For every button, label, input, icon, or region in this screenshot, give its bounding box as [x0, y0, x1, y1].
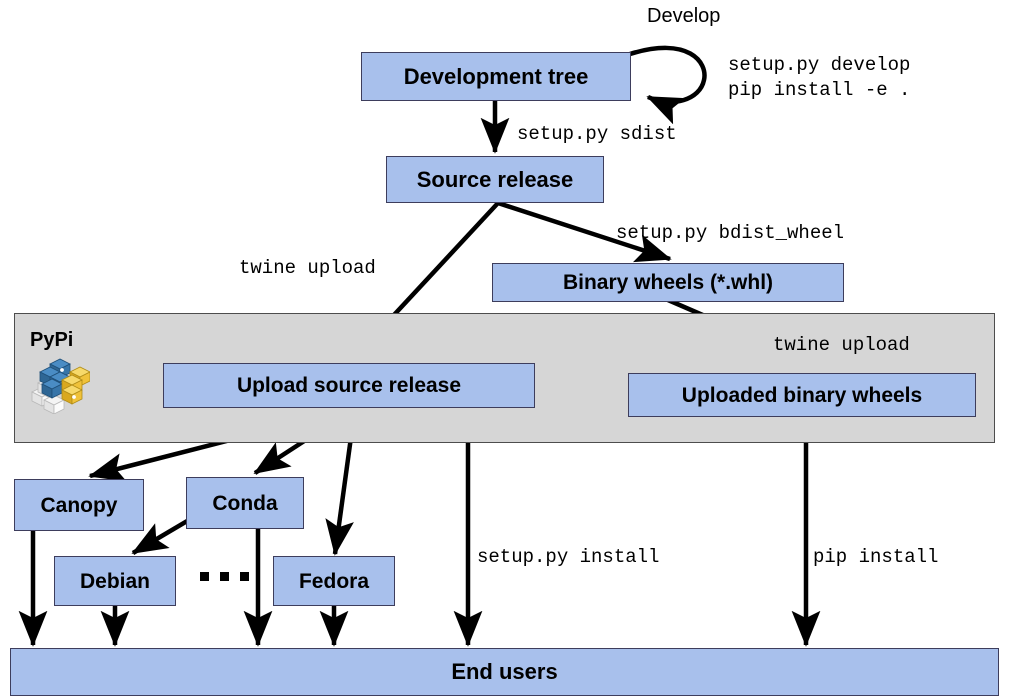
- node-development-tree[interactable]: Development tree: [361, 52, 631, 101]
- edge-label-bdist-wheel: setup.py bdist_wheel: [616, 221, 844, 246]
- edge-develop-selfloop: [630, 48, 704, 102]
- edge-label-sdist: setup.py sdist: [517, 122, 677, 147]
- node-uploaded-binary-wheels[interactable]: Uploaded binary wheels: [628, 373, 976, 417]
- node-fedora[interactable]: Fedora: [273, 556, 395, 606]
- ellipsis-dots-icon: [200, 572, 249, 581]
- pypi-region-label: PyPi: [30, 329, 73, 352]
- node-source-release[interactable]: Source release: [386, 156, 604, 203]
- node-end-users[interactable]: End users: [10, 648, 999, 696]
- edge-label-develop: Develop: [647, 5, 720, 28]
- edge-label-develop-commands: setup.py develop pip install -e .: [728, 53, 910, 103]
- edge-label-twine-upload-wheels: twine upload: [773, 333, 910, 358]
- edge-label-twine-upload-source: twine upload: [239, 256, 376, 281]
- node-canopy[interactable]: Canopy: [14, 479, 144, 531]
- node-conda[interactable]: Conda: [186, 477, 304, 529]
- node-upload-source-release[interactable]: Upload source release: [163, 363, 535, 408]
- pypi-logo-icon: [28, 356, 90, 414]
- packaging-flow-diagram: PyPi: [0, 0, 1009, 698]
- edge-label-setup-py-install: setup.py install: [477, 545, 659, 570]
- edge-label-pip-install: pip install: [813, 545, 938, 570]
- node-debian[interactable]: Debian: [54, 556, 176, 606]
- node-binary-wheels[interactable]: Binary wheels (*.whl): [492, 263, 844, 302]
